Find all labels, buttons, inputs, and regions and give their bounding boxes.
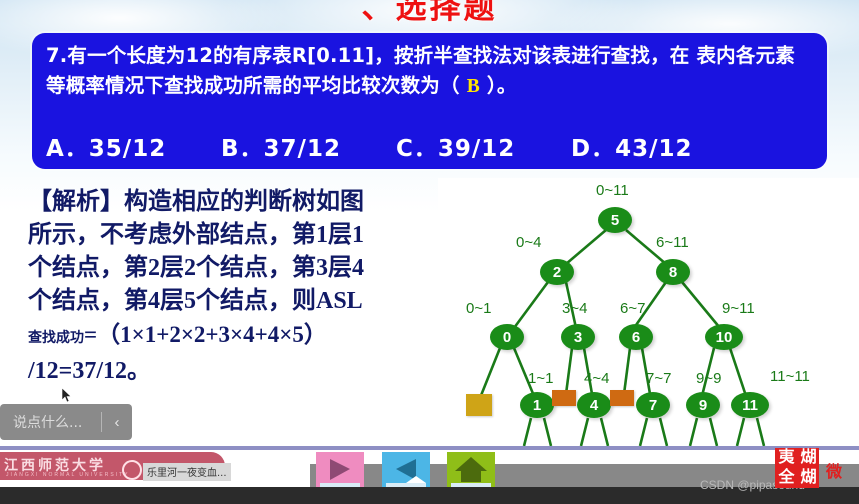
option-c[interactable]: C．39/12 — [396, 129, 571, 163]
option-d[interactable]: D．43/12 — [571, 129, 746, 163]
tree-node-1[interactable]: 1 — [520, 392, 554, 418]
tree-node-10[interactable]: 10 — [705, 324, 743, 350]
seal-char-2: 煳 — [797, 449, 819, 467]
taskbar-play-button[interactable] — [316, 452, 364, 487]
slide-canvas: 、选择题 7.有一个长度为12的有序表R[0.11]，按折半查找法对该表进行查找… — [0, 0, 859, 460]
explanation-formula: =（1×1+2×2+3×4+4×5） — [84, 322, 327, 347]
question-line-1: 7.有一个长度为12的有序表R[0.11]，按折半查找法对该表进行查找，在 — [46, 44, 689, 67]
top-divider — [0, 446, 859, 450]
question-answer: B — [467, 76, 480, 97]
range-label-11-11: 11~11 — [770, 368, 810, 385]
option-a[interactable]: A．35/12 — [46, 129, 221, 163]
question-line-2-tail: ）。 — [487, 74, 517, 97]
taskbar-home-button[interactable] — [447, 452, 495, 487]
explanation-block: 【解析】构造相应的判断树如图 所示，不考虑外部结点，第1层1 个结点，第2层2个… — [28, 186, 428, 388]
back-triangle-icon — [382, 452, 430, 487]
chat-placeholder[interactable]: 说点什么... — [0, 412, 101, 432]
mouse-cursor-icon — [62, 388, 72, 403]
explanation-line-1: 【解析】构造相应的判断树如图 — [28, 186, 428, 219]
slide-screenshot: 、选择题 7.有一个长度为12的有序表R[0.11]，按折半查找法对该表进行查找… — [0, 0, 859, 504]
now-playing-label: 乐里河一夜变血... — [143, 463, 231, 481]
explanation-line-6: /12=37/12。 — [28, 355, 428, 388]
slide-title: 、选择题 — [0, 0, 859, 27]
tree-node-2[interactable]: 2 — [540, 259, 574, 285]
tree-node-11[interactable]: 11 — [731, 392, 769, 418]
range-label-4-4: 4~4 — [584, 370, 609, 387]
tree-node-7[interactable]: 7 — [636, 392, 670, 418]
tree-node-3[interactable]: 3 — [561, 324, 595, 350]
range-label-9-9: 9~9 — [696, 370, 721, 387]
binary-search-decision-tree: 0~11 5 0~4 2 6~11 8 0~1 0 3~4 3 6~7 6 9~… — [438, 178, 859, 460]
banner-subtitle: JIANGXI NORMAL UNIVERSITY — [6, 472, 129, 478]
home-icon — [447, 452, 495, 487]
taskbar-back-button[interactable] — [382, 452, 430, 487]
range-label-3-4: 3~4 — [562, 300, 587, 317]
banner-seal-icon — [122, 460, 142, 480]
tree-node-5[interactable]: 5 — [598, 207, 632, 233]
range-label-0-1: 0~1 — [466, 300, 491, 317]
external-node-square-orange-2 — [610, 390, 634, 406]
range-label-6-11: 6~11 — [656, 234, 689, 251]
explanation-line-5: 查找成功=（1×1+2×2+3×4+4×5） — [28, 318, 428, 355]
chevron-left-icon[interactable]: ‹ — [102, 414, 132, 431]
seal-char-1: 夷 — [775, 449, 797, 467]
question-options: A．35/12 B．37/12 C．39/12 D．43/12 — [46, 129, 816, 163]
external-node-square-left — [466, 394, 492, 416]
question-panel: 7.有一个长度为12的有序表R[0.11]，按折半查找法对该表进行查找，在 表内… — [32, 33, 827, 169]
range-label-7-7: 7~7 — [646, 370, 671, 387]
tree-node-8[interactable]: 8 — [656, 259, 690, 285]
seal-side-char: 微 — [826, 458, 842, 482]
red-seal-stamp: 夷 煳 全 煳 — [775, 448, 819, 488]
tree-node-6[interactable]: 6 — [619, 324, 653, 350]
explanation-line-4: 个结点，第4层5个结点，则ASL — [28, 285, 428, 318]
chat-input-bar[interactable]: 说点什么... ‹ — [0, 404, 132, 440]
explanation-subscript: 查找成功 — [28, 331, 84, 346]
tree-node-9[interactable]: 9 — [686, 392, 720, 418]
explanation-line-2: 所示，不考虑外部结点，第1层1 — [28, 219, 428, 252]
seal-char-3: 全 — [775, 469, 797, 487]
range-label-9-11: 9~11 — [722, 300, 755, 317]
range-label-1-1: 1~1 — [528, 370, 553, 387]
explanation-line-3: 个结点，第2层2个结点，第3层4 — [28, 252, 428, 285]
option-b[interactable]: B．37/12 — [221, 129, 396, 163]
range-label-0-4: 0~4 — [516, 234, 541, 251]
tree-node-0[interactable]: 0 — [490, 324, 524, 350]
seal-char-4: 煳 — [797, 469, 819, 487]
tree-node-4[interactable]: 4 — [577, 392, 611, 418]
question-text: 7.有一个长度为12的有序表R[0.11]，按折半查找法对该表进行查找，在 表内… — [46, 41, 814, 102]
range-label-6-7: 6~7 — [620, 300, 645, 317]
external-node-square-orange-1 — [552, 390, 576, 406]
range-label-0-11: 0~11 — [596, 182, 629, 199]
play-triangle-icon — [316, 452, 364, 487]
